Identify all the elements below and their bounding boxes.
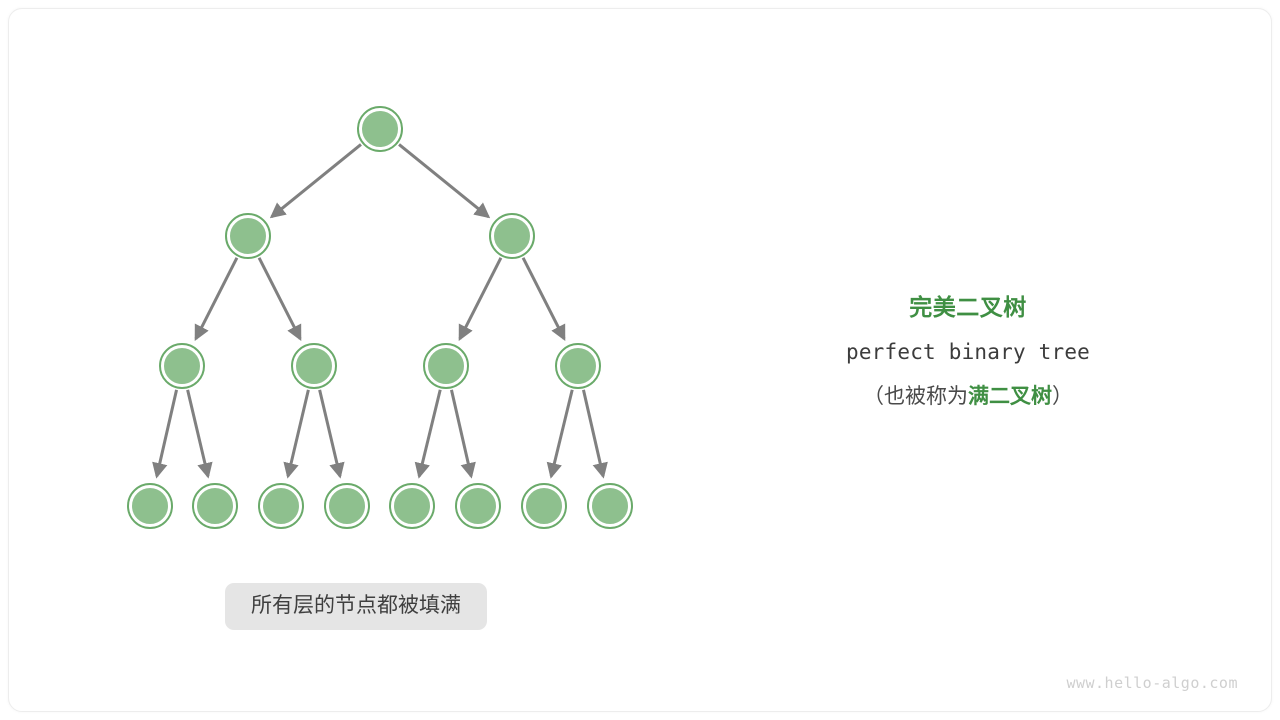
tree-edge <box>157 390 177 476</box>
tree-node-body <box>295 347 333 385</box>
legend-title: 完美二叉树 <box>808 292 1128 322</box>
tree-node <box>226 214 270 258</box>
tree-edge <box>259 258 300 339</box>
tree-edge <box>288 390 308 476</box>
tree-node <box>588 484 632 528</box>
tree-node-layer <box>128 107 632 528</box>
legend-alias-highlight: 满二叉树 <box>968 385 1052 408</box>
tree-node-body <box>393 487 431 525</box>
tree-edge <box>272 144 361 216</box>
tree-edge <box>419 390 440 477</box>
tree-edge <box>196 258 237 339</box>
tree-node <box>522 484 566 528</box>
tree-node <box>160 344 204 388</box>
tree-node-body <box>493 217 531 255</box>
tree-edge <box>551 390 572 477</box>
tree-node-body <box>196 487 234 525</box>
tree-edge <box>399 144 488 216</box>
tree-node-body <box>591 487 629 525</box>
tree-node <box>424 344 468 388</box>
tree-node <box>259 484 303 528</box>
tree-node <box>193 484 237 528</box>
tree-node-body <box>459 487 497 525</box>
tree-edge <box>320 390 340 476</box>
tree-node <box>292 344 336 388</box>
figure-canvas: 完美二叉树 perfect binary tree （也被称为满二叉树） 所有层… <box>0 0 1280 720</box>
tree-node-body <box>427 347 465 385</box>
caption-pill: 所有层的节点都被填满 <box>225 583 487 630</box>
legend-subtitle: perfect binary tree <box>808 337 1128 367</box>
tree-node-body <box>361 110 399 148</box>
tree-node-body <box>328 487 366 525</box>
tree-node <box>358 107 402 151</box>
tree-node <box>556 344 600 388</box>
legend-alias-prefix: （也被称为 <box>863 385 968 408</box>
tree-node-body <box>525 487 563 525</box>
legend-alias: （也被称为满二叉树） <box>808 382 1128 412</box>
tree-edge <box>451 390 471 476</box>
tree-node-body <box>559 347 597 385</box>
legend-alias-suffix: ） <box>1052 385 1073 408</box>
tree-node-body <box>229 217 267 255</box>
watermark: www.hello-algo.com <box>1066 674 1238 692</box>
legend-text-block: 完美二叉树 perfect binary tree （也被称为满二叉树） <box>808 292 1128 412</box>
tree-node-body <box>131 487 169 525</box>
tree-node <box>325 484 369 528</box>
tree-edge-layer <box>157 144 603 476</box>
tree-edge <box>583 390 603 476</box>
tree-edge <box>188 390 208 476</box>
tree-node <box>128 484 172 528</box>
tree-node-body <box>163 347 201 385</box>
tree-edge <box>460 258 501 339</box>
tree-node <box>456 484 500 528</box>
tree-node-body <box>262 487 300 525</box>
tree-node <box>390 484 434 528</box>
tree-node <box>490 214 534 258</box>
tree-edge <box>523 258 564 339</box>
